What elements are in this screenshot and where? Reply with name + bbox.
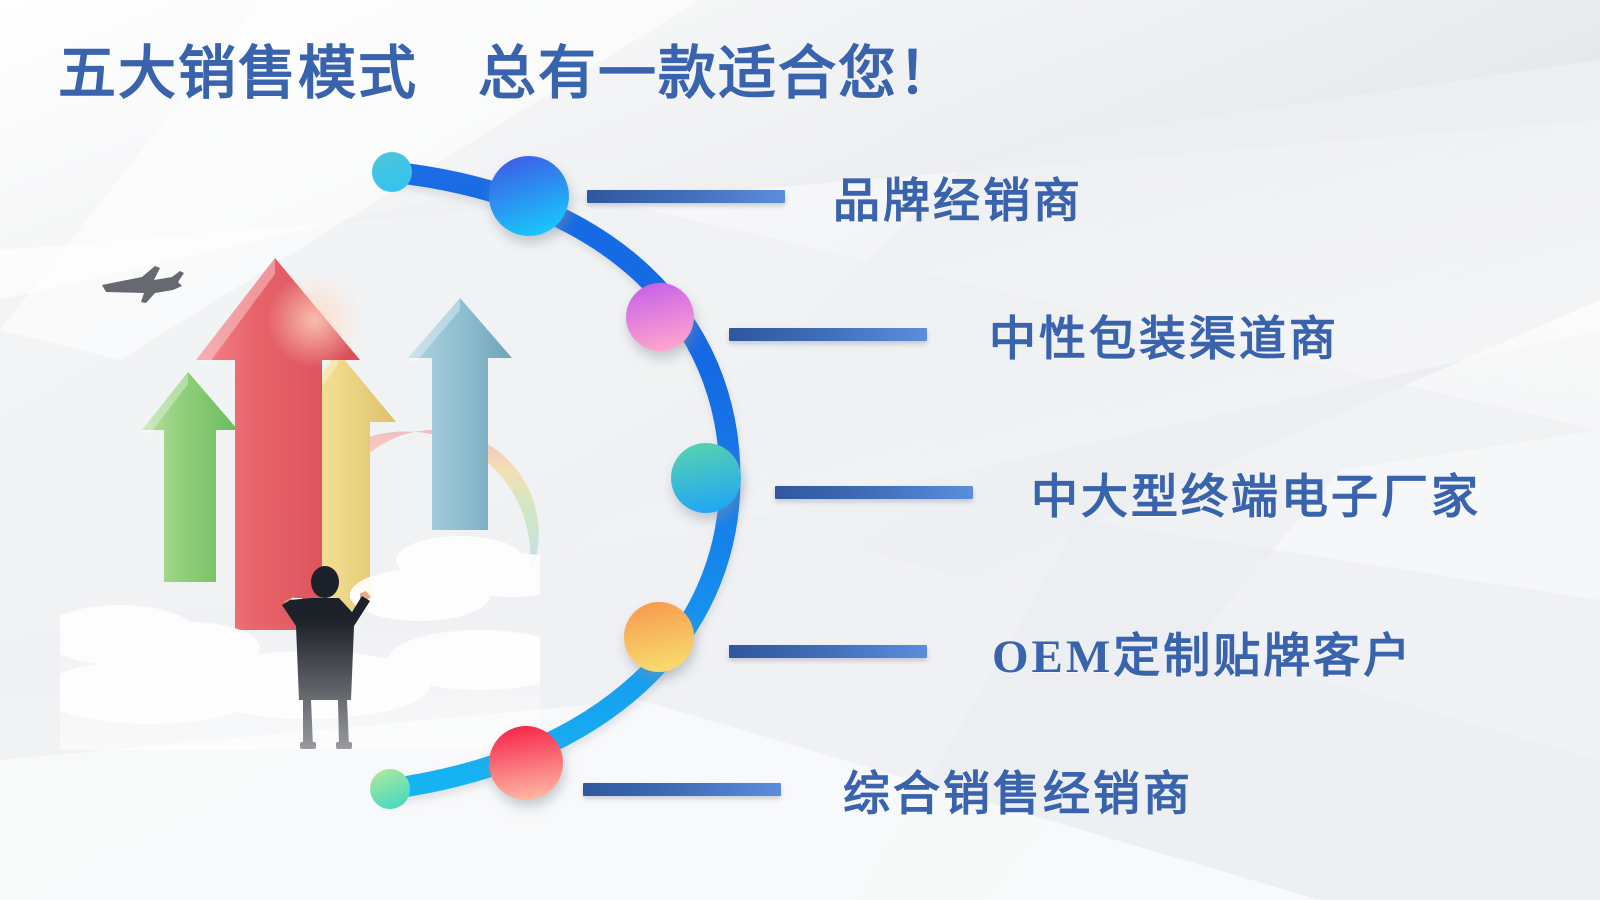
sales-model-row-3[interactable]: 中大型终端电子厂家 xyxy=(775,458,1481,527)
node-4 xyxy=(624,602,694,672)
sales-model-row-2[interactable]: 中性包装渠道商 xyxy=(729,300,1339,369)
arc-end-dot xyxy=(370,769,410,809)
node-1 xyxy=(489,156,569,236)
connector-bar-5 xyxy=(583,783,781,796)
sales-model-label-1: 品牌经销商 xyxy=(833,162,1083,231)
sales-model-row-4[interactable]: OEM定制贴牌客户 xyxy=(729,617,1413,686)
connector-bar-1 xyxy=(587,190,785,203)
node-2 xyxy=(626,283,694,351)
sales-model-label-5: 综合销售经销商 xyxy=(843,755,1193,824)
node-5 xyxy=(489,726,563,800)
sales-model-label-2: 中性包装渠道商 xyxy=(989,300,1339,369)
sales-model-label-4: OEM定制贴牌客户 xyxy=(992,617,1413,686)
connector-bar-4 xyxy=(729,645,927,658)
connector-bar-3 xyxy=(775,486,973,499)
infographic-canvas: DIGITAL xyxy=(0,0,1600,900)
connector-bar-2 xyxy=(729,328,927,341)
sales-model-row-1[interactable]: 品牌经销商 xyxy=(587,162,1083,231)
node-3 xyxy=(671,443,741,513)
sales-model-row-5[interactable]: 综合销售经销商 xyxy=(583,755,1193,824)
sales-model-label-3: 中大型终端电子厂家 xyxy=(1031,458,1481,527)
arc-start-dot xyxy=(372,152,412,192)
page-title: 五大销售模式 总有一款适合您！ xyxy=(58,26,958,110)
